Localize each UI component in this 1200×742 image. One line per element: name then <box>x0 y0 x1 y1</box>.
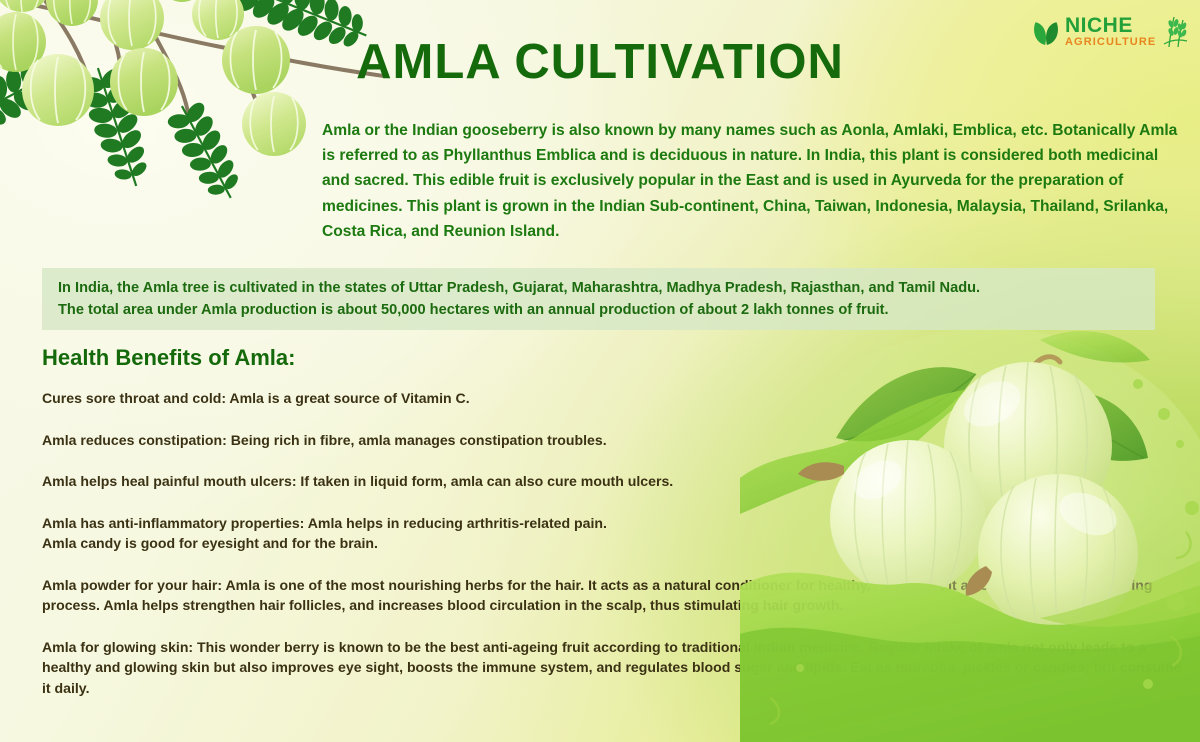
intro-paragraph: Amla or the Indian gooseberry is also kn… <box>322 118 1188 244</box>
cultivation-states-line: In India, the Amla tree is cultivated in… <box>58 277 1139 299</box>
benefits-heading: Health Benefits of Amla: <box>42 345 295 371</box>
amla-fruits-juice-splash-photo <box>740 318 1200 742</box>
page-title: AMLA CULTIVATION <box>0 34 1200 90</box>
logo-primary-text: NICHE <box>1065 15 1156 36</box>
infographic-poster: NICHE AGRICULTURE AMLA CULTIVATION Amla <box>0 0 1200 742</box>
